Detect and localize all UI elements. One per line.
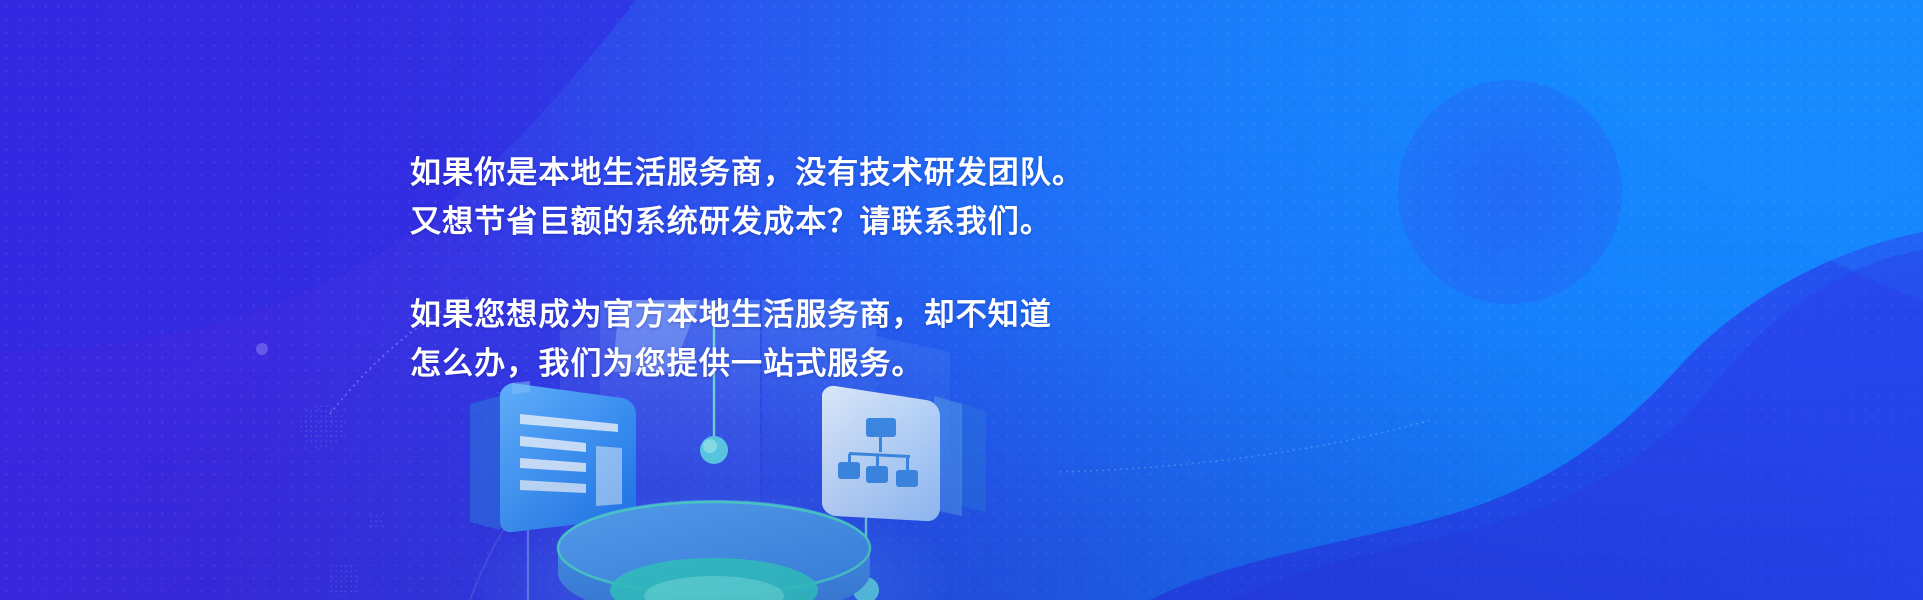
banner-copy: 如果你是本地生活服务商，没有技术研发团队。 又想节省巨额的系统研发成本？请联系我… [410,148,1230,388]
copy-line-4: 怎么办，我们为您提供一站式服务。 [410,339,1230,388]
copy-line-2: 又想节省巨额的系统研发成本？请联系我们。 [410,197,1230,246]
paragraph-1: 如果你是本地生活服务商，没有技术研发团队。 又想节省巨额的系统研发成本？请联系我… [410,148,1230,246]
copy-line-3: 如果您想成为官方本地生活服务商，却不知道 [410,290,1230,339]
promo-banner: 如果你是本地生活服务商，没有技术研发团队。 又想节省巨额的系统研发成本？请联系我… [0,0,1923,600]
copy-line-1: 如果你是本地生活服务商，没有技术研发团队。 [410,148,1230,197]
paragraph-2: 如果您想成为官方本地生活服务商，却不知道 怎么办，我们为您提供一站式服务。 [410,290,1230,388]
